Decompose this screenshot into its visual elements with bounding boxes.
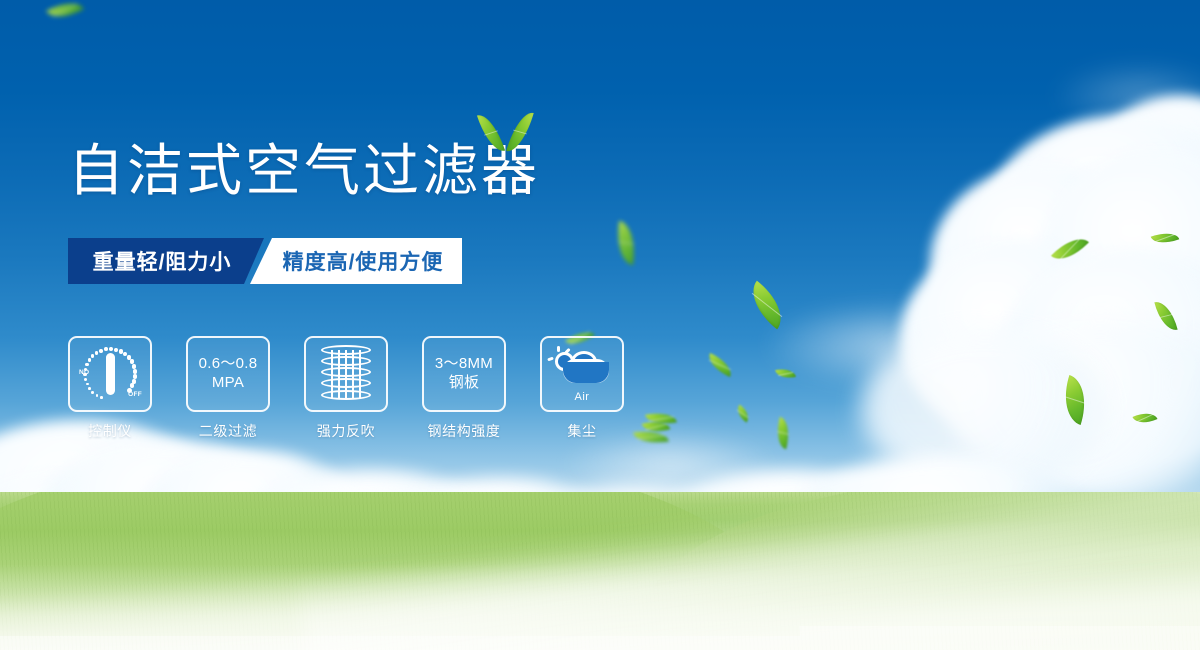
gauge-dial-dot (95, 351, 99, 355)
air-cloud-icon (551, 346, 613, 390)
feature-list: NO OFF 控制仪 0.6～0.8 MPA 二级过滤 (68, 336, 624, 441)
feature-label: 控制仪 (88, 421, 132, 441)
ribbon-segment-right: 精度高/使用方便 (250, 238, 462, 284)
ribbon-right-text: 精度高/使用方便 (283, 246, 444, 276)
gauge-dial-dot (85, 363, 88, 366)
feature-icon-box: 0.6～0.8 MPA (186, 336, 270, 412)
feature-item-steel-strength[interactable]: 3～8MM 钢板 钢结构强度 (422, 336, 506, 441)
feature-icon-box: 3～8MM 钢板 (422, 336, 506, 412)
ground-haze (0, 564, 1200, 650)
feature-item-back-blow[interactable]: 强力反吹 (304, 336, 388, 441)
gauge-dial-dot (88, 387, 91, 390)
gauge-icon: NO OFF (79, 345, 141, 403)
filter-cartridge-icon (321, 345, 371, 403)
air-label: Air (575, 391, 590, 403)
gauge-dial-dot (83, 373, 86, 376)
ribbon-left-text: 重量轻/阻力小 (93, 246, 232, 276)
feature-item-control-gauge[interactable]: NO OFF 控制仪 (68, 336, 152, 441)
feature-icon-box: Air (540, 336, 624, 412)
grass-field (0, 492, 1200, 650)
gauge-dial-dot (84, 378, 87, 381)
feature-item-two-stage-filter[interactable]: 0.6～0.8 MPA 二级过滤 (186, 336, 270, 441)
gauge-needle-icon (106, 353, 115, 395)
feature-label: 二级过滤 (199, 421, 257, 441)
gauge-dial-dot (84, 368, 87, 371)
gauge-dial-dot (91, 391, 94, 394)
feature-item-dust-collection[interactable]: Air 集尘 (540, 336, 624, 441)
gauge-dial-dot (114, 348, 118, 352)
feature-icon-text: 3～8MM 钢板 (435, 355, 493, 393)
gauge-dial-dot (100, 396, 103, 399)
gauge-dial-dot (133, 374, 138, 379)
gauge-dial-dot (91, 354, 95, 358)
gauge-dial-dot (88, 358, 91, 361)
feature-icon-box: NO OFF (68, 336, 152, 412)
feature-icon-box (304, 336, 388, 412)
product-hero-banner: 自洁式空气过滤器 重量轻/阻力小 精度高/使用方便 NO OFF 控制仪 (0, 0, 1200, 650)
feature-label: 强力反吹 (317, 421, 375, 441)
feature-label: 钢结构强度 (428, 421, 501, 441)
ribbon-segment-left: 重量轻/阻力小 (68, 238, 264, 284)
page-title: 自洁式空气过滤器 (68, 143, 540, 199)
gauge-dial-dot (133, 369, 138, 374)
gauge-dial-dot (86, 383, 89, 386)
feature-label: 集尘 (567, 421, 596, 441)
feature-icon-text: 0.6～0.8 MPA (199, 355, 258, 393)
gauge-dial-dot (109, 347, 113, 351)
gauge-dial-dot (104, 347, 108, 351)
gauge-dial-dot (99, 349, 103, 353)
gauge-dial-dot (127, 388, 132, 393)
subtitle-ribbon: 重量轻/阻力小 精度高/使用方便 (68, 238, 462, 284)
gauge-dial-dot (96, 394, 99, 397)
gauge-dial-dot (132, 364, 137, 369)
cloud-mask (563, 362, 609, 383)
